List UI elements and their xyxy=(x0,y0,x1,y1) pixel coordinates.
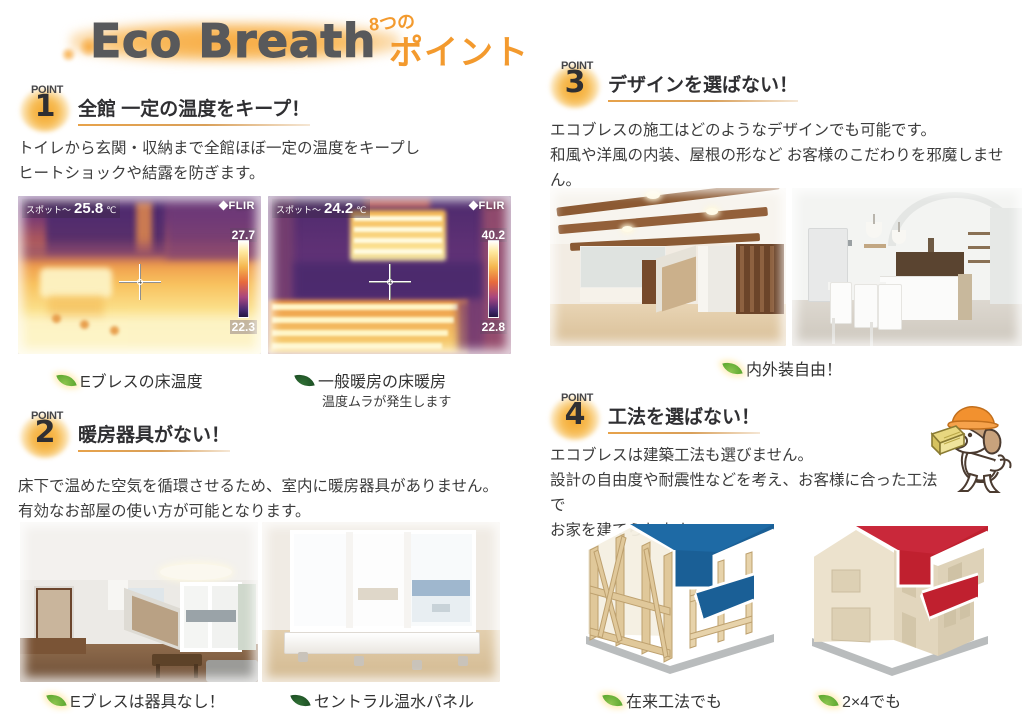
badge-number: 4 xyxy=(552,400,598,430)
leaf-icon xyxy=(294,370,314,389)
caption-house-right: 2×4でも xyxy=(820,688,901,712)
brochure-page: Eco Breath 8つの ポイント POINT 1 全館 一定の温度をキープ… xyxy=(0,0,1024,714)
point-3-badge: POINT 3 xyxy=(548,60,606,110)
point-2-title: 暖房器具がない！ xyxy=(78,420,230,452)
caption-text: 内外装自由！ xyxy=(746,356,842,380)
point-1-title: 全館 一定の温度をキープ！ xyxy=(78,94,310,126)
eco-breath-logo: Eco Breath 8つの ポイント xyxy=(62,8,532,74)
spot-prefix: スポット～ xyxy=(276,205,321,215)
point-2-heading: POINT 2 暖房器具がない！ xyxy=(18,410,518,462)
caption-room-left: Eブレスは器具なし！ xyxy=(48,688,225,712)
title-underline xyxy=(78,450,230,452)
caption-thermal-right-note: 温度ムラが発生します xyxy=(322,391,451,410)
point-4-title-text: 工法を選ばない！ xyxy=(608,407,760,428)
leaf-icon xyxy=(56,370,76,389)
title-underline xyxy=(78,124,310,126)
caption-text: 在来工法でも xyxy=(626,688,722,712)
house-illustration-two-by-four xyxy=(798,516,1008,682)
photo-room-no-heater xyxy=(20,522,258,682)
spot-prefix: スポット～ xyxy=(26,205,71,215)
caption-text: セントラル温水パネル xyxy=(314,688,474,712)
point-4-title: 工法を選ばない！ xyxy=(608,402,760,434)
dog-mascot-icon xyxy=(930,396,1022,496)
caption-room-right: セントラル温水パネル xyxy=(292,688,474,712)
leaf-icon xyxy=(46,690,66,709)
flir-text: FLIR xyxy=(229,200,255,212)
point-3-title: デザインを選ばない！ xyxy=(608,70,798,102)
thermal-image-general-heating: スポット～24.2℃ FLIR 40.2 22.8 xyxy=(268,196,511,354)
photo-interior-western xyxy=(792,188,1022,346)
house-illustration-post-and-beam xyxy=(578,516,788,682)
leaf-icon xyxy=(290,690,310,709)
point-2-body: 床下で温めた空気を循環させるため、室内に暖房器具がありません。 有効なお部屋の使… xyxy=(18,474,518,524)
point-1-badge: POINT 1 xyxy=(18,84,76,134)
title-underline xyxy=(608,100,798,102)
logo-dot-small-icon xyxy=(62,48,75,61)
caption-interior: 内外装自由！ xyxy=(724,356,842,380)
caption-thermal-left: Eブレスの床温度 xyxy=(58,368,203,392)
caption-text: 2×4でも xyxy=(842,688,901,712)
point-1-body: トイレから玄関・収納まで全館ほぼ一定の温度をキープし ヒートショックや結露を防ぎ… xyxy=(18,136,518,186)
flir-diamond-icon xyxy=(218,201,228,211)
point-4-badge: POINT 4 xyxy=(548,392,606,442)
logo-subtitle-points: ポイント xyxy=(389,25,529,74)
spot-unit: ℃ xyxy=(106,205,116,215)
flir-logo: FLIR xyxy=(470,200,505,212)
thermal-right-spot-readout: スポット～24.2℃ xyxy=(272,199,370,218)
thermal-right-scale-low: 22.8 xyxy=(480,320,507,334)
thermal-left-spot-readout: スポット～25.8℃ xyxy=(22,199,120,218)
spot-value: 24.2 xyxy=(324,200,353,217)
thermal-image-ebreath: スポット～25.8℃ FLIR 27.7 22.3 xyxy=(18,196,261,354)
caption-thermal-right: 一般暖房の床暖房 xyxy=(296,368,446,392)
flir-diamond-icon xyxy=(468,201,478,211)
point-1-title-text: 全館 一定の温度をキープ！ xyxy=(78,99,310,120)
photo-interior-japanese xyxy=(550,188,786,346)
flir-logo: FLIR xyxy=(220,200,255,212)
flir-text: FLIR xyxy=(479,200,505,212)
thermal-right-crosshair-icon xyxy=(369,264,411,300)
thermal-left-crosshair-icon xyxy=(119,264,161,300)
photo-central-water-panel xyxy=(262,522,500,682)
badge-number: 3 xyxy=(552,68,598,98)
leaf-icon xyxy=(818,690,838,709)
caption-house-left: 在来工法でも xyxy=(604,688,722,712)
title-underline xyxy=(608,432,760,434)
thermal-right-color-scale xyxy=(488,240,499,318)
point-1-heading: POINT 1 全館 一定の温度をキープ！ xyxy=(18,84,518,136)
spot-value: 25.8 xyxy=(74,200,103,217)
point-3-heading: POINT 3 デザインを選ばない！ xyxy=(548,60,1018,112)
point-2-badge: POINT 2 xyxy=(18,410,76,460)
badge-number: 2 xyxy=(22,418,68,448)
caption-text: Eブレスは器具なし！ xyxy=(70,688,225,712)
point-3-body: エコブレスの施工はどのようなデザインでも可能です。 和風や洋風の内装、屋根の形な… xyxy=(550,118,1024,193)
point-3-title-text: デザインを選ばない！ xyxy=(608,75,798,96)
badge-number: 1 xyxy=(22,92,68,122)
caption-text: 一般暖房の床暖房 xyxy=(318,368,446,392)
leaf-icon xyxy=(602,690,622,709)
thermal-left-color-scale xyxy=(238,240,249,318)
thermal-left-scale-low: 22.3 xyxy=(230,320,257,334)
spot-unit: ℃ xyxy=(356,205,366,215)
caption-text: Eブレスの床温度 xyxy=(80,368,203,392)
point-2-title-text: 暖房器具がない！ xyxy=(78,425,230,446)
leaf-icon xyxy=(722,358,742,377)
logo-title: Eco Breath xyxy=(90,14,376,68)
